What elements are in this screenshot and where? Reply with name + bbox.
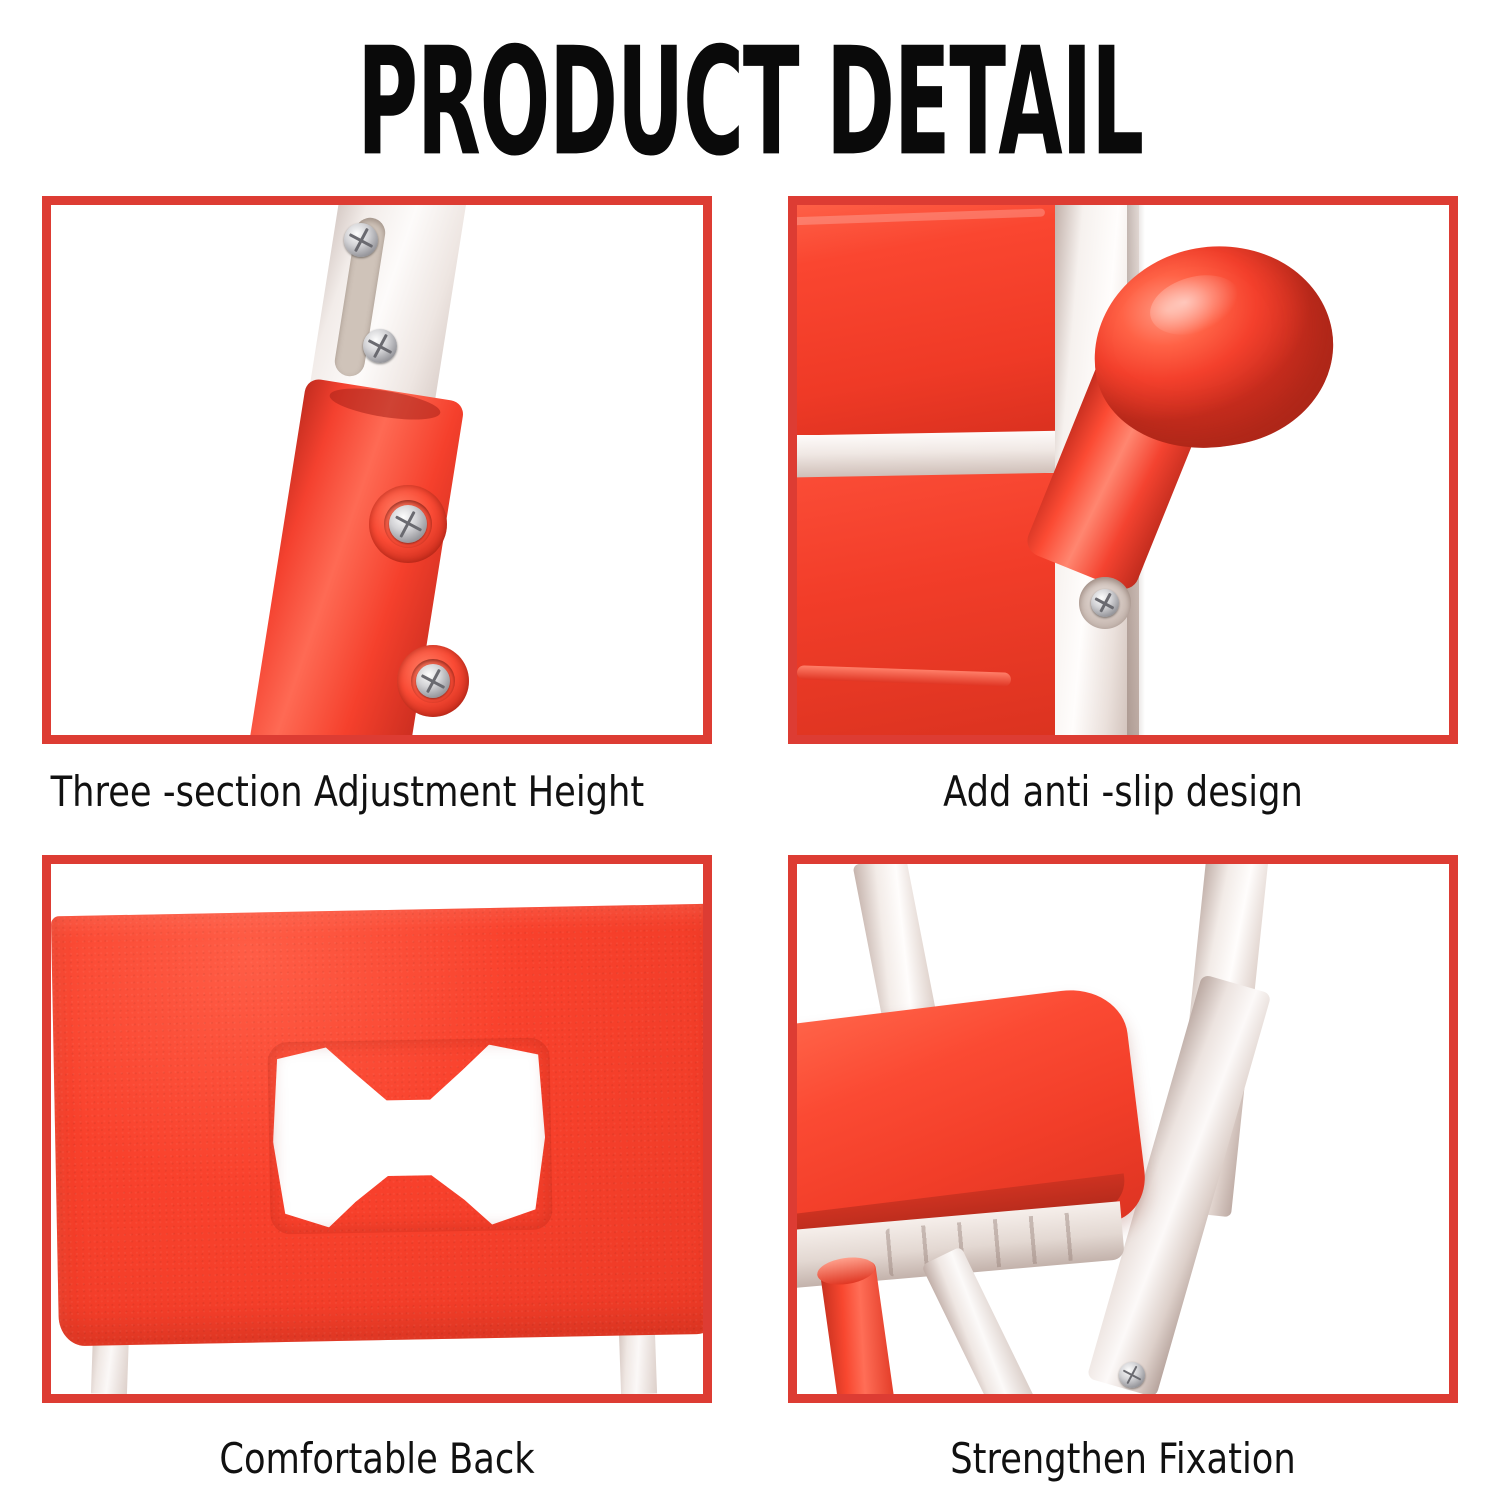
red-backrest [797,205,1097,435]
screw-boss [397,645,469,717]
screw-recess [1079,577,1131,629]
page-title: PRODUCT DETAIL [278,28,1223,177]
panel-caption-1: Three -section Adjustment Height [51,766,614,818]
photo-frame-2 [788,196,1458,744]
photo-frame-3 [42,855,712,1403]
photo-frame-4 [788,855,1458,1403]
white-crossbar [797,430,1097,478]
screw-icon [363,329,397,363]
screw-icon [416,664,450,698]
detail-panel-three-section-adjustment-height: Three -section Adjustment Height [42,196,712,818]
product-photo-anti-slip [797,205,1449,735]
screw-icon [389,505,427,543]
screw-icon [344,223,378,257]
product-photo-strengthen-fixation [797,864,1449,1394]
screw-icon [1091,589,1119,617]
red-seat-panel [797,473,1067,735]
product-photo-comfortable-back [51,864,703,1394]
photo-frame-1 [42,196,712,744]
screw-icon [1119,1362,1145,1388]
detail-panel-grid: Three -section Adjustment Height Add ant… [42,196,1458,1396]
product-photo-adjustment-height [51,205,703,735]
panel-caption-3: Comfortable Back [96,1433,659,1485]
detail-panel-comfortable-back: Comfortable Back [42,855,712,1485]
panel-caption-4: Strengthen Fixation [842,1433,1405,1485]
detail-panel-strengthen-fixation: Strengthen Fixation [788,855,1458,1485]
panel-caption-2: Add anti -slip design [842,766,1405,818]
detail-panel-add-anti-slip-design: Add anti -slip design [788,196,1458,818]
screw-boss [369,485,447,563]
